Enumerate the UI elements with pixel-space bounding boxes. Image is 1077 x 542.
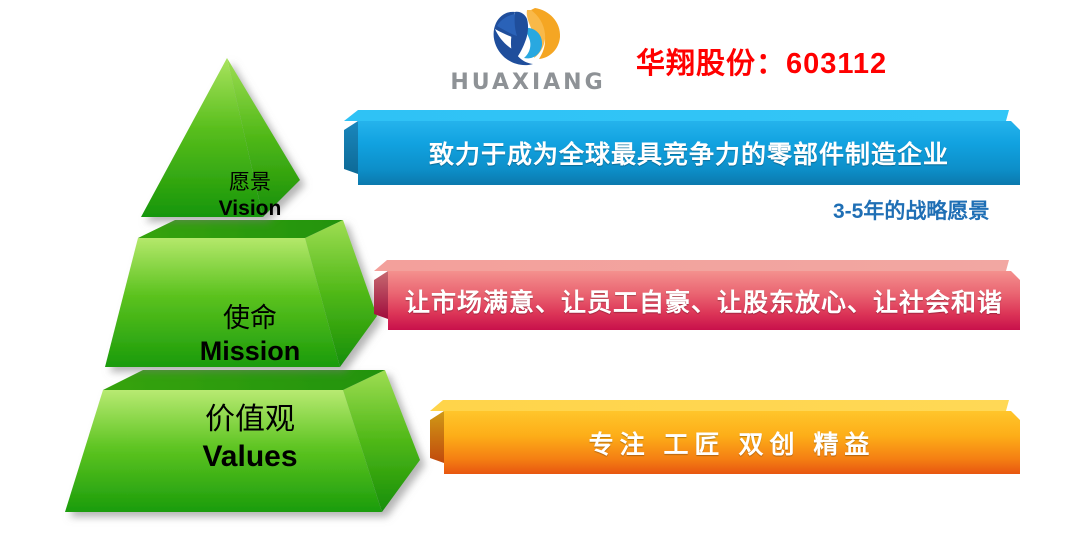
banner-top-face-vision (344, 110, 1009, 121)
slide-canvas: HUAXIANG 华翔股份：603112 (0, 0, 1077, 542)
company-logo: HUAXIANG (443, 4, 613, 100)
banner-front-face-vision: 致力于成为全球最具竞争力的零部件制造企业 (358, 121, 1020, 185)
banner-front-face-values: 专注 工匠 双创 精益 (444, 411, 1020, 474)
banner-side-face-vision (344, 121, 358, 174)
vision-statement-banner: 致力于成为全球最具竞争力的零部件制造企业 (344, 110, 1020, 185)
banner-side-face-values (430, 411, 444, 463)
vision-statement-text: 致力于成为全球最具竞争力的零部件制造企业 (429, 135, 949, 171)
banner-side-face-mission (374, 271, 388, 319)
banner-top-face-mission (374, 260, 1009, 271)
logo-wordmark: HUAXIANG (443, 70, 613, 96)
mission-statement-text: 让市场满意、让员工自豪、让股东放心、让社会和谐 (405, 283, 1003, 319)
stock-title: 华翔股份：603112 (636, 40, 887, 82)
banner-top-face-values (430, 400, 1009, 411)
huaxiang-logo-mark-icon (487, 4, 567, 70)
banner-front-face-mission: 让市场满意、让员工自豪、让股东放心、让社会和谐 (388, 271, 1020, 330)
values-statement-text: 专注 工匠 双创 精益 (589, 425, 876, 461)
mission-statement-banner: 让市场满意、让员工自豪、让股东放心、让社会和谐 (374, 260, 1020, 330)
vision-timeframe-note: 3-5年的战略愿景 (833, 195, 989, 225)
values-statement-banner: 专注 工匠 双创 精益 (430, 400, 1020, 474)
